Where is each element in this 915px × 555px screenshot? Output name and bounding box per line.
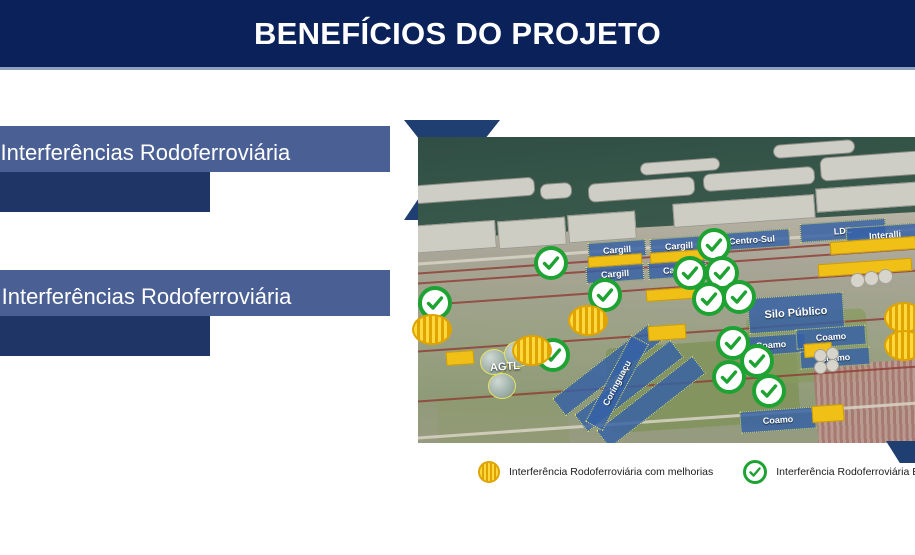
callout-2-bar: a: 5 Interferências Rodoferroviária — [0, 270, 390, 316]
callout-2-label: Interferências Rodoferroviária — [2, 286, 292, 308]
yellow-strip-6 — [648, 324, 687, 342]
silo-2 — [864, 271, 879, 286]
legend-eliminated-icon — [743, 460, 767, 484]
warehouse-2 — [497, 217, 567, 250]
callout-1-bar: 16 Interferências Rodoferroviária — [0, 126, 390, 172]
marker-eliminated-10[interactable] — [712, 360, 746, 394]
callout-block-2: a: 5 Interferências Rodoferroviária — [0, 270, 390, 356]
marker-eliminated-6[interactable] — [722, 280, 756, 314]
page-title: BENEFÍCIOS DO PROJETO — [0, 0, 915, 67]
silo-6 — [814, 361, 827, 374]
legend-eliminated-label: Interferência Rodoferroviária Eliminadas — [776, 466, 915, 478]
marker-improved-5[interactable] — [412, 314, 452, 345]
ship-2 — [539, 182, 572, 200]
header-divider — [0, 67, 915, 70]
marker-eliminated-11[interactable] — [752, 374, 786, 408]
yellow-strip-9 — [446, 350, 475, 366]
silo-3 — [878, 269, 893, 284]
callout-block-1: 16 Interferências Rodoferroviária — [0, 126, 390, 212]
yellow-strip-8 — [811, 404, 844, 423]
warehouse-3 — [567, 211, 637, 244]
marker-eliminated-1[interactable] — [534, 246, 568, 280]
map-label-agtl: AGTL — [490, 360, 521, 374]
legend-improved-icon — [478, 461, 500, 483]
callout-1-label: Interferências Rodoferroviária — [0, 142, 290, 164]
silo-7 — [826, 359, 839, 372]
map-legend: Interferência Rodoferroviária com melhor… — [478, 458, 915, 486]
silo-1 — [850, 273, 865, 288]
marker-eliminated-13[interactable] — [673, 256, 707, 290]
aerial-map-image: Cargill Cargill Cargill Cargill Centro-S… — [418, 137, 915, 443]
legend-improved-label: Interferência Rodoferroviária com melhor… — [509, 466, 713, 478]
marker-improved-2[interactable] — [512, 335, 552, 366]
tank-3 — [488, 373, 516, 399]
marker-improved-1[interactable] — [568, 305, 608, 336]
